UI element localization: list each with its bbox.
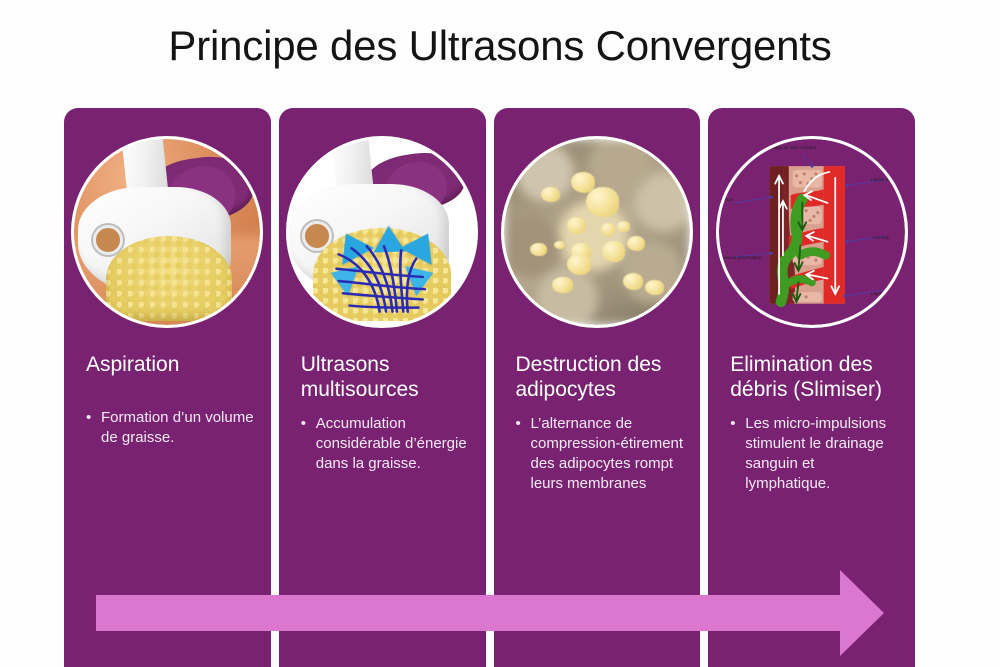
lymphatic-drainage-diagram-image: Drainage de tissu corporel Liquide inter… <box>716 136 908 328</box>
step-card-ultrasons-multisources[interactable]: Ultrasons multisources Accumulation cons… <box>279 108 486 667</box>
bullet-item: L’alternance de compression-étirement de… <box>516 414 689 494</box>
diagram-label: Liquide interstitiel <box>871 177 905 182</box>
ultrasound-wave-lines-icon <box>330 236 438 318</box>
microscopic-adipocytes-image <box>501 136 693 328</box>
step-bullets: L’alternance de compression-étirement de… <box>516 414 689 494</box>
handpiece-on-skin-image <box>71 136 263 328</box>
diagram-label: Vaisseau lymphatique <box>719 255 762 260</box>
bullet-item: Accumulation considérable d’énergie dans… <box>301 414 474 474</box>
diagram-label: Drainage de tissu corporel <box>765 145 816 150</box>
step-title: Destruction des adipocytes <box>516 352 687 402</box>
diagram-label: Capillaire <box>871 291 889 296</box>
converging-ultrasound-image <box>286 136 478 328</box>
vessel-anatomy-diagram-icon <box>719 139 905 325</box>
step-title: Elimination des débris (Slimiser) <box>730 352 901 402</box>
page-title: Principe des Ultrasons Convergents <box>0 22 1000 70</box>
step-bullets: Formation d’un volume de graisse. <box>86 408 259 448</box>
step-card-destruction-des-adipocytes[interactable]: Destruction des adipocytes L’alternance … <box>494 108 701 667</box>
step-card-elimination-des-debris[interactable]: Drainage de tissu corporel Liquide inter… <box>708 108 915 667</box>
step-card-aspiration[interactable]: Aspiration Formation d’un volume de grai… <box>64 108 271 667</box>
steps-strip: Aspiration Formation d’un volume de grai… <box>64 108 915 667</box>
step-bullets: Les micro-impulsions stimulent le draina… <box>730 414 903 494</box>
diagram-label: Artériole <box>873 235 890 240</box>
step-title: Aspiration <box>86 352 257 377</box>
diagram-label: Veinule <box>719 197 733 202</box>
step-title: Ultrasons multisources <box>301 352 472 402</box>
slide-root: Principe des Ultrasons Convergents <box>0 0 1000 667</box>
step-bullets: Accumulation considérable d’énergie dans… <box>301 414 474 474</box>
bullet-item: Les micro-impulsions stimulent le draina… <box>730 414 903 494</box>
bullet-item: Formation d’un volume de graisse. <box>86 408 259 448</box>
